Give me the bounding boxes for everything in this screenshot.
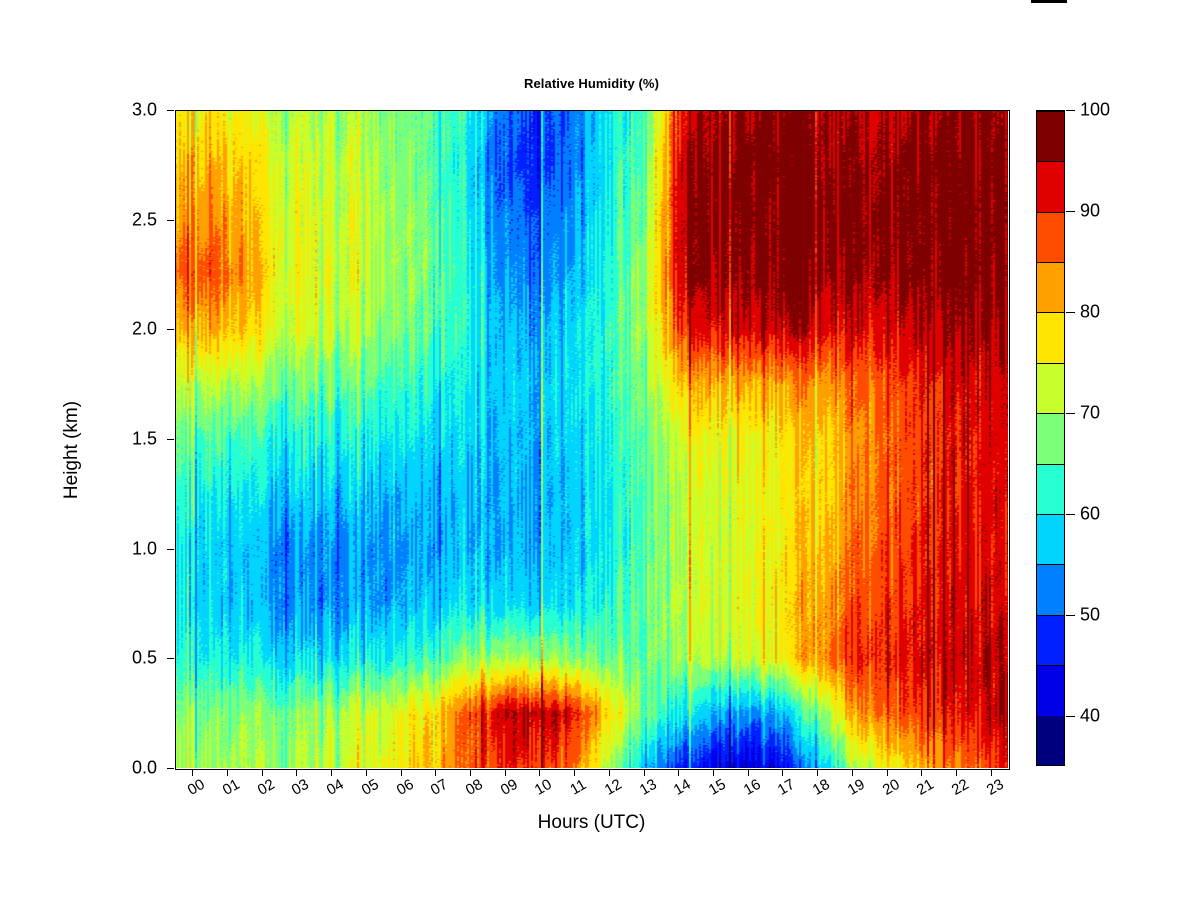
x-tick-label: 09 bbox=[497, 776, 520, 799]
humidity-time-height-figure: Relative Humidity (%) 0.00.51.01.52.02.5… bbox=[0, 0, 1200, 900]
y-tick-mark bbox=[167, 220, 174, 221]
x-tick-label: 07 bbox=[428, 776, 451, 799]
colorbar-tick-label: 50 bbox=[1080, 604, 1100, 625]
x-tick-label: 12 bbox=[602, 776, 625, 799]
x-tick-mark bbox=[192, 769, 193, 776]
colorbar-tick-label: 80 bbox=[1080, 301, 1100, 322]
colorbar-band bbox=[1037, 212, 1064, 262]
x-tick-mark bbox=[505, 769, 506, 776]
x-tick-mark bbox=[852, 769, 853, 776]
x-tick-label: 10 bbox=[532, 776, 555, 799]
y-tick-mark bbox=[167, 658, 174, 659]
y-tick-label: 0.0 bbox=[85, 758, 157, 779]
x-tick-mark bbox=[227, 769, 228, 776]
x-tick-label: 20 bbox=[879, 776, 902, 799]
colorbar-tick-mark bbox=[1066, 716, 1075, 717]
x-tick-mark bbox=[713, 769, 714, 776]
x-tick-label: 18 bbox=[810, 776, 833, 799]
x-tick-mark bbox=[366, 769, 367, 776]
x-tick-label: 06 bbox=[393, 776, 416, 799]
colorbar-band bbox=[1037, 111, 1064, 161]
colorbar-tick-label: 60 bbox=[1080, 503, 1100, 524]
x-tick-label: 05 bbox=[359, 776, 382, 799]
x-tick-mark bbox=[678, 769, 679, 776]
x-tick-label: 04 bbox=[324, 776, 347, 799]
x-tick-mark bbox=[748, 769, 749, 776]
colorbar-band bbox=[1037, 363, 1064, 413]
colorbar-band bbox=[1037, 262, 1064, 312]
colorbar-band bbox=[1037, 564, 1064, 614]
x-axis-label: Hours (UTC) bbox=[175, 812, 1008, 834]
x-tick-mark bbox=[956, 769, 957, 776]
colorbar-band bbox=[1037, 161, 1064, 211]
y-tick-mark bbox=[167, 549, 174, 550]
y-tick-mark bbox=[167, 439, 174, 440]
colorbar-tick-label: 100 bbox=[1080, 100, 1110, 121]
x-tick-label: 03 bbox=[289, 776, 312, 799]
x-tick-label: 21 bbox=[914, 776, 937, 799]
y-tick-mark bbox=[167, 110, 174, 111]
x-tick-label: 02 bbox=[255, 776, 278, 799]
colorbar-tick-mark bbox=[1066, 110, 1075, 111]
x-tick-label: 08 bbox=[463, 776, 486, 799]
colorbar-tick-mark bbox=[1066, 514, 1075, 515]
x-tick-mark bbox=[435, 769, 436, 776]
colorbar-band bbox=[1037, 615, 1064, 665]
x-tick-mark bbox=[817, 769, 818, 776]
colorbar-band bbox=[1037, 716, 1064, 765]
colorbar-tick-mark bbox=[1066, 615, 1075, 616]
colorbar-band bbox=[1037, 464, 1064, 514]
page-title: Relative Humidity (%) bbox=[175, 76, 1008, 91]
x-tick-mark bbox=[991, 769, 992, 776]
x-tick-mark bbox=[609, 769, 610, 776]
heatmap-canvas bbox=[175, 110, 1008, 768]
x-tick-label: 13 bbox=[636, 776, 659, 799]
x-tick-mark bbox=[644, 769, 645, 776]
x-tick-label: 14 bbox=[671, 776, 694, 799]
colorbar-band bbox=[1037, 665, 1064, 715]
y-tick-label: 2.5 bbox=[85, 209, 157, 230]
colorbar-tick-label: 70 bbox=[1080, 402, 1100, 423]
colorbar-band bbox=[1037, 413, 1064, 463]
colorbar-band bbox=[1037, 312, 1064, 362]
colorbar-tick-mark bbox=[1066, 312, 1075, 313]
x-tick-mark bbox=[887, 769, 888, 776]
x-tick-label: 15 bbox=[706, 776, 729, 799]
x-tick-label: 16 bbox=[740, 776, 763, 799]
x-tick-label: 01 bbox=[220, 776, 243, 799]
x-tick-mark bbox=[921, 769, 922, 776]
colorbar bbox=[1036, 110, 1065, 766]
x-tick-label: 11 bbox=[567, 776, 589, 799]
y-axis-label: Height (km) bbox=[61, 350, 83, 550]
heatmap-plot-area bbox=[175, 110, 1008, 768]
y-tick-label: 1.0 bbox=[85, 538, 157, 559]
x-tick-mark bbox=[470, 769, 471, 776]
y-tick-label: 2.0 bbox=[85, 319, 157, 340]
x-tick-label: 22 bbox=[949, 776, 972, 799]
y-tick-label: 0.5 bbox=[85, 648, 157, 669]
x-tick-mark bbox=[296, 769, 297, 776]
colorbar-tick-mark bbox=[1066, 413, 1075, 414]
y-tick-mark bbox=[167, 768, 174, 769]
x-tick-label: 23 bbox=[983, 776, 1006, 799]
x-tick-label: 17 bbox=[775, 776, 798, 799]
colorbar-tick-label: 40 bbox=[1080, 705, 1100, 726]
x-tick-mark bbox=[539, 769, 540, 776]
x-tick-mark bbox=[262, 769, 263, 776]
colorbar-tick-label: 90 bbox=[1080, 200, 1100, 221]
x-tick-label: 19 bbox=[845, 776, 868, 799]
colorbar-tick-mark bbox=[1066, 211, 1075, 212]
x-tick-mark bbox=[782, 769, 783, 776]
x-tick-mark bbox=[401, 769, 402, 776]
y-tick-mark bbox=[167, 329, 174, 330]
x-tick-mark bbox=[574, 769, 575, 776]
y-tick-label: 1.5 bbox=[85, 429, 157, 450]
x-tick-mark bbox=[331, 769, 332, 776]
colorbar-band bbox=[1037, 514, 1064, 564]
x-tick-label: 00 bbox=[185, 776, 208, 799]
y-tick-label: 3.0 bbox=[85, 100, 157, 121]
